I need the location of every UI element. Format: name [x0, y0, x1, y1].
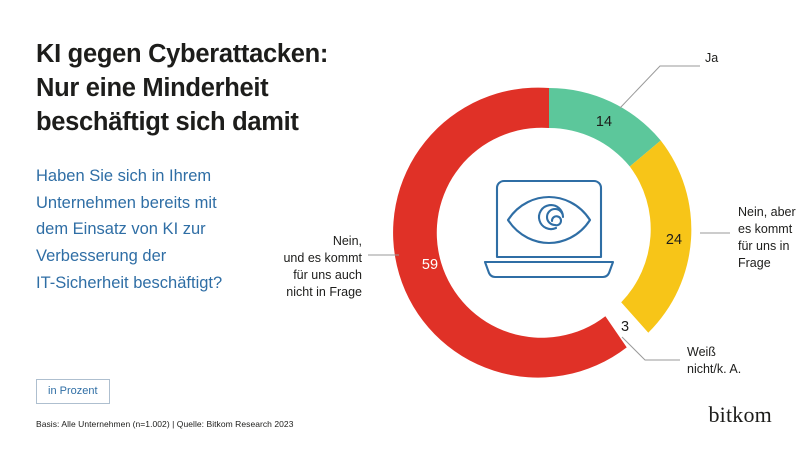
survey-question: Haben Sie sich in Ihrem Unternehmen bere… — [36, 163, 301, 297]
callout-nein-aber-line-3: für uns in — [738, 239, 789, 253]
donut-segment-nein-aber[interactable] — [621, 140, 691, 332]
callout-ja-line-1: Ja — [705, 51, 718, 65]
callout-nein-und-line-3: für uns auch — [293, 268, 362, 282]
callout-label-nein-aber: Nein, aber es kommt für uns in Frage — [738, 205, 796, 270]
callout-nein-aber-line-1: Nein, aber — [738, 205, 796, 219]
unit-badge: in Prozent — [36, 379, 110, 404]
source-note: Basis: Alle Unternehmen (n=1.002) | Quel… — [36, 419, 293, 429]
bitkom-logo: bitkom — [708, 402, 772, 428]
laptop-eye-icon — [485, 181, 613, 277]
callout-nein-aber-line-4: Frage — [738, 256, 771, 270]
leader-line-ja — [620, 66, 700, 108]
callout-label-ja: Ja — [705, 51, 718, 65]
callout-weiss-nicht-line-2: nicht/k. A. — [687, 362, 741, 376]
callout-weiss-nicht-line-1: Weiß — [687, 345, 716, 359]
callout-nein-und-line-1: Nein, — [333, 234, 362, 248]
callout-nein-aber-line-2: es kommt — [738, 222, 793, 236]
callout-label-weiss-nicht: Weiß nicht/k. A. — [687, 345, 741, 376]
page-title: KI gegen Cyberattacken: Nur eine Minderh… — [36, 38, 376, 140]
